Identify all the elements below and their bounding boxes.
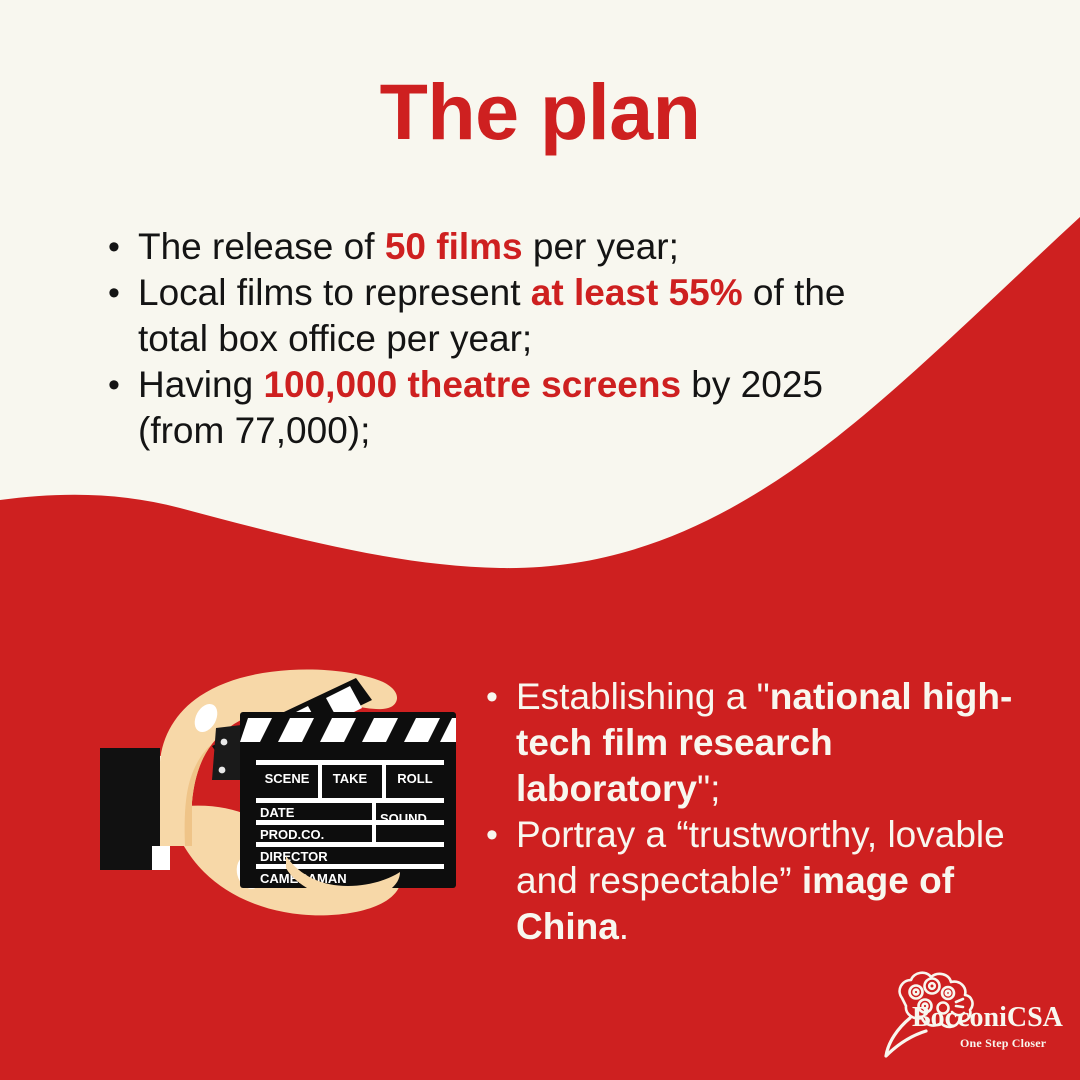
board-rule: [256, 864, 444, 869]
board-field-date: DATE: [260, 805, 295, 820]
slide-canvas: The plan • The release of 50 films per y…: [0, 0, 1080, 1080]
list-item-text: Portray a “trustworthy, lovable and resp…: [516, 812, 1026, 950]
clapperboard-body: SCENE TAKE ROLL DATE SOUND PROD.CO. DIRE…: [240, 712, 456, 888]
list-item-text: Establishing a "national high-tech film …: [516, 674, 1026, 812]
bottom-bullet-list: • Establishing a "national high-tech fil…: [486, 674, 1026, 950]
bullet-marker-icon: •: [108, 270, 138, 316]
hinge-rivet: [221, 739, 228, 746]
board-rule: [256, 842, 444, 847]
page-title: The plan: [0, 72, 1080, 151]
upper-sleeve: [100, 748, 160, 846]
board-rule: [318, 760, 322, 798]
logo-tagline: One Step Closer: [960, 1036, 1046, 1051]
bullet-marker-icon: •: [486, 674, 516, 720]
bullet-marker-icon: •: [108, 362, 138, 408]
text-part: Establishing a ": [516, 676, 770, 717]
board-field-sound: SOUND: [380, 811, 427, 826]
text-part: Having: [138, 364, 263, 405]
list-item-text: Local films to represent at least 55% of…: [138, 270, 868, 362]
text-part: .: [619, 906, 629, 947]
list-item: • Establishing a "national high-tech fil…: [486, 674, 1026, 812]
list-item-text: Having 100,000 theatre screens by 2025 (…: [138, 362, 868, 454]
board-rule: [382, 760, 386, 798]
text-part: The release of: [138, 226, 385, 267]
list-item: • Local films to represent at least 55% …: [108, 270, 868, 362]
clapperboard-illustration: SCENE TAKE ROLL DATE SOUND PROD.CO. DIRE…: [100, 620, 500, 940]
board-rule: [256, 760, 444, 765]
bullet-marker-icon: •: [486, 812, 516, 858]
board-field-director: DIRECTOR: [260, 849, 328, 864]
board-rule: [256, 798, 444, 803]
text-part: Local films to represent: [138, 272, 531, 313]
hinge-rivet: [219, 767, 226, 774]
text-part: per year;: [523, 226, 679, 267]
board-rule: [372, 798, 376, 842]
list-item: • The release of 50 films per year;: [108, 224, 868, 270]
board-field-scene: SCENE: [265, 771, 310, 786]
list-item: • Portray a “trustworthy, lovable and re…: [486, 812, 1026, 950]
text-part-highlight: 100,000 theatre screens: [263, 364, 681, 405]
text-part-highlight: at least 55%: [531, 272, 743, 313]
logo-wordmark: BocconiCSA: [912, 1002, 1063, 1034]
board-field-prodco: PROD.CO.: [260, 827, 324, 842]
text-part: ";: [697, 768, 720, 809]
brand-logo: BocconiCSA One Step Closer: [868, 962, 1064, 1064]
board-field-take: TAKE: [333, 771, 368, 786]
bullet-marker-icon: •: [108, 224, 138, 270]
list-item-text: The release of 50 films per year;: [138, 224, 868, 270]
board-field-roll: ROLL: [397, 771, 432, 786]
text-part-highlight: 50 films: [385, 226, 523, 267]
top-bullet-list: • The release of 50 films per year; • Lo…: [108, 224, 868, 454]
list-item: • Having 100,000 theatre screens by 2025…: [108, 362, 868, 454]
